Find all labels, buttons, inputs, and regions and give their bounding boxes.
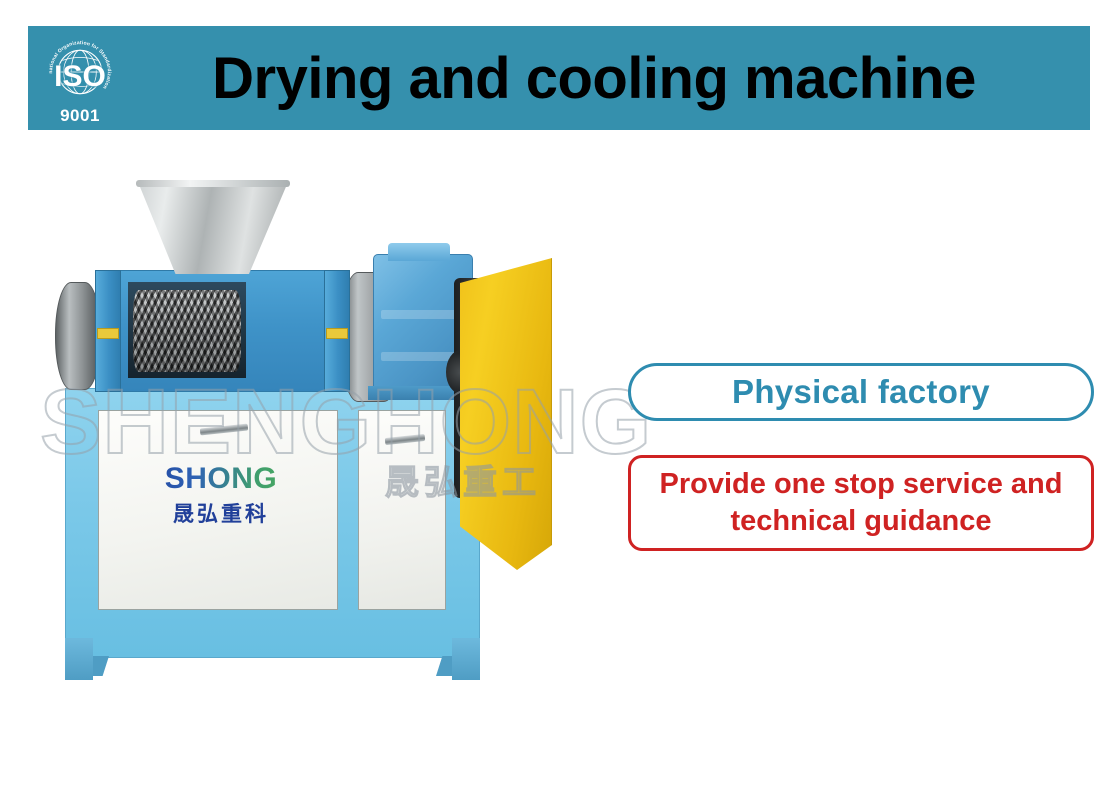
machine-foot-left <box>93 656 109 676</box>
product-photo: SHONG 晟弘重科 <box>40 160 600 700</box>
warning-label-right <box>326 328 348 339</box>
stainless-steel-hopper <box>138 182 288 274</box>
machine-foot-right <box>436 656 452 676</box>
brand-name: SHONG <box>136 462 306 496</box>
machine-brand-logo: SHONG 晟弘重科 <box>136 462 306 528</box>
brand-name-chinese: 晟弘重科 <box>136 498 306 528</box>
callout-physical-factory[interactable]: Physical factory <box>628 363 1094 421</box>
machine-leg-left <box>65 638 93 680</box>
iso-certification-logo: International Organization for Standardi… <box>28 26 132 130</box>
product-banner-page: International Organization for Standardi… <box>0 0 1120 800</box>
iso-mark-text: ISO <box>28 62 132 92</box>
callout-physical-factory-label: Physical factory <box>732 373 990 411</box>
hopper-rim <box>136 180 290 187</box>
machine-leg-right <box>452 638 480 680</box>
callout-one-stop-service-label: Provide one stop service and technical g… <box>660 466 1063 540</box>
perforated-drum-roller <box>133 290 241 372</box>
iso-standard-number: 9001 <box>28 106 132 126</box>
warning-label-left <box>97 328 119 339</box>
callout-one-stop-service[interactable]: Provide one stop service and technical g… <box>628 455 1094 551</box>
callout-line-2: technical guidance <box>730 505 991 537</box>
page-title: Drying and cooling machine <box>132 45 1090 112</box>
callout-line-1: Provide one stop service and <box>660 468 1063 500</box>
header-band: International Organization for Standardi… <box>28 26 1090 130</box>
yellow-belt-guard <box>460 258 552 570</box>
